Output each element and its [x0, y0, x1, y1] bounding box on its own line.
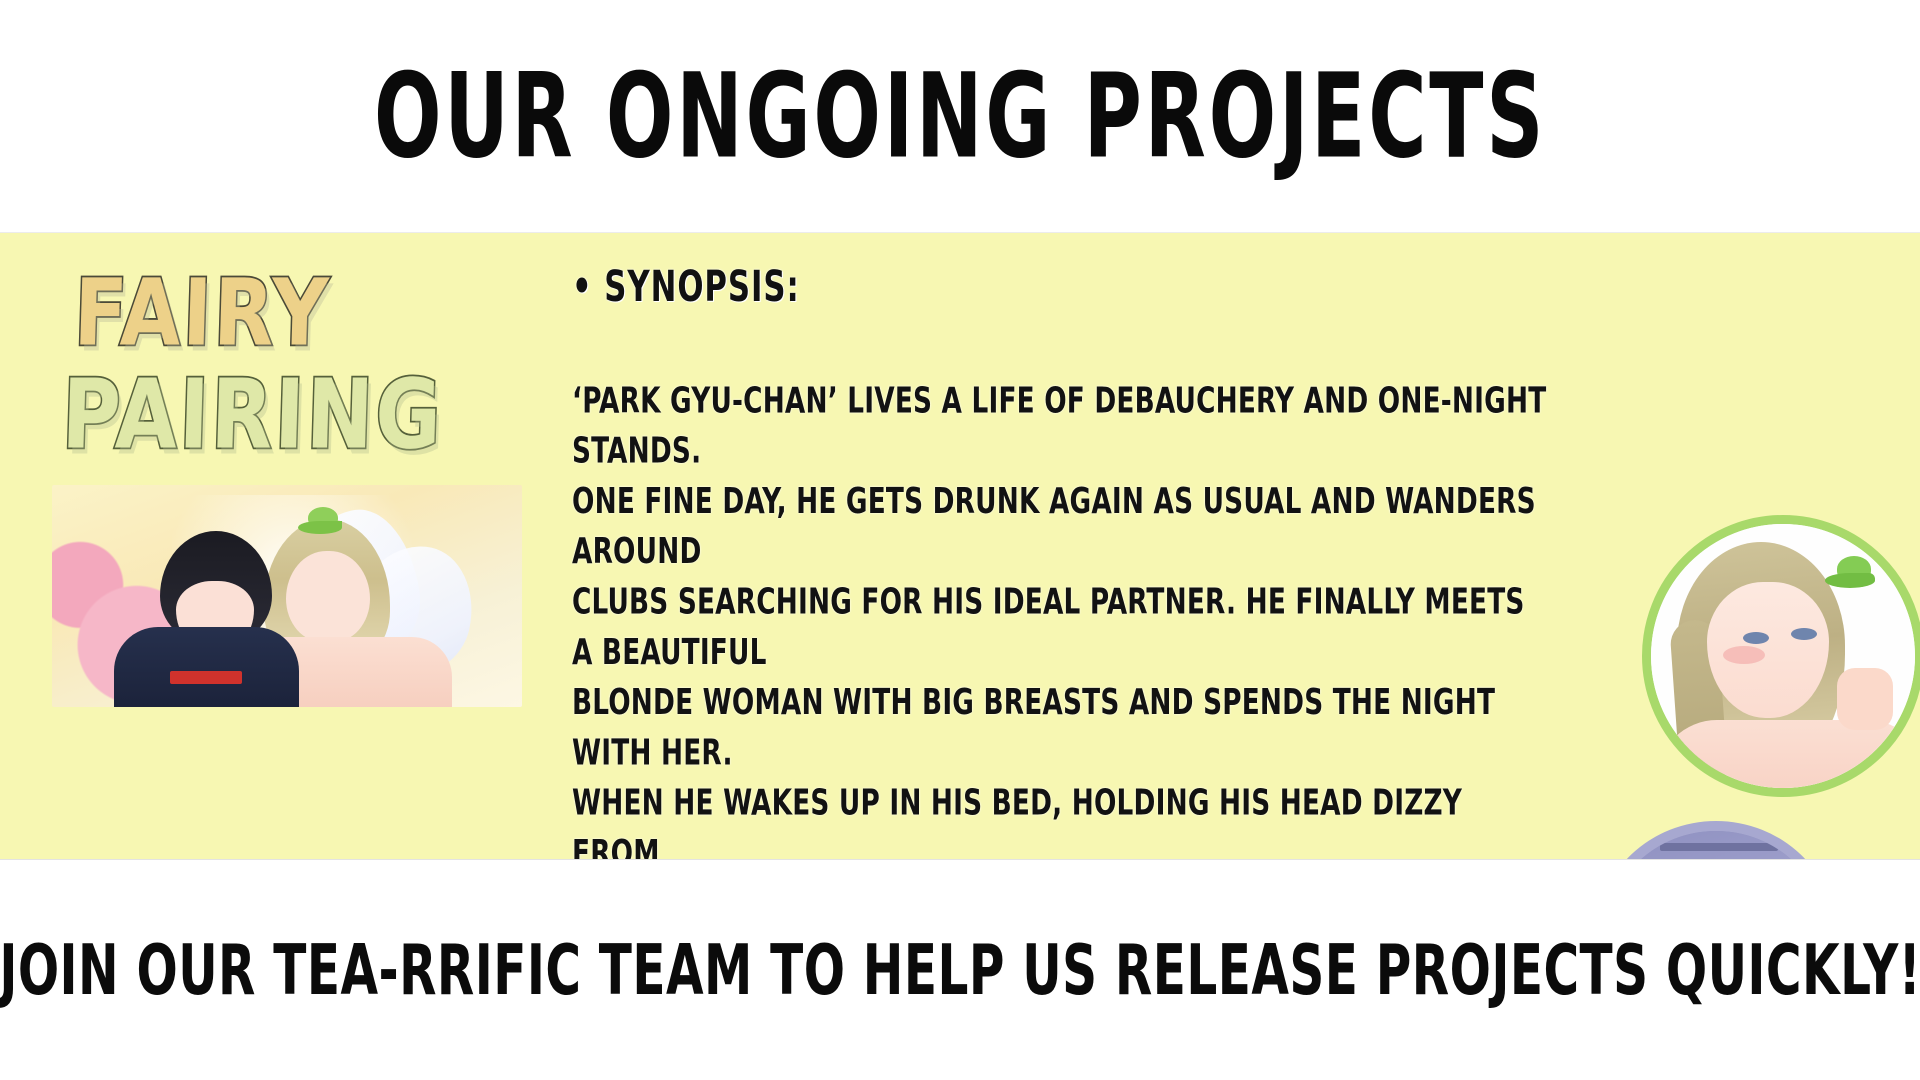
avatar-fist — [1837, 668, 1893, 730]
project-left-column: FAIRY PAIRING — [52, 257, 522, 707]
promo-page: OUR ONGOING PROJECTS FAIRY PAIRING — [0, 0, 1920, 1080]
page-footer: JOIN OUR TEA-RRIFIC TEAM TO HELP US RELE… — [0, 860, 1920, 1079]
project-logo-line-1: FAIRY — [73, 268, 332, 360]
avatar-bg-shelf — [1660, 843, 1778, 851]
project-panel: FAIRY PAIRING • SYNOPSIS: ‘PARK GYU-CHAN… — [0, 232, 1920, 860]
banner-blonde-face — [286, 551, 370, 643]
avatar-blush — [1723, 646, 1765, 664]
avatar-shoulders — [1657, 720, 1920, 797]
synopsis-text: ‘PARK GYU-CHAN’ LIVES A LIFE OF DEBAUCHE… — [572, 376, 1551, 860]
synopsis-label: • SYNOPSIS: — [572, 263, 1541, 311]
frog-icon — [308, 507, 338, 529]
avatar-eye-right — [1791, 628, 1817, 640]
banner-hoodie — [114, 627, 299, 707]
project-logo-line-2: PAIRING — [61, 367, 445, 463]
avatar-eye-left — [1743, 632, 1769, 644]
synopsis-block: • SYNOPSIS: ‘PARK GYU-CHAN’ LIVES A LIFE… — [572, 267, 1592, 860]
frog-on-leaf-icon — [1837, 556, 1871, 582]
page-header: OUR ONGOING PROJECTS — [0, 0, 1920, 232]
fairy-mon-avatar — [1642, 515, 1920, 797]
recruitment-message: JOIN OUR TEA-RRIFIC TEAM TO HELP US RELE… — [0, 929, 1920, 1011]
banner-hoodie-print — [170, 671, 242, 684]
project-logo: FAIRY PAIRING — [52, 257, 522, 479]
page-title: OUR ONGOING PROJECTS — [374, 48, 1546, 185]
project-banner-image — [52, 485, 522, 707]
gyu-chan-avatar — [1596, 821, 1836, 860]
